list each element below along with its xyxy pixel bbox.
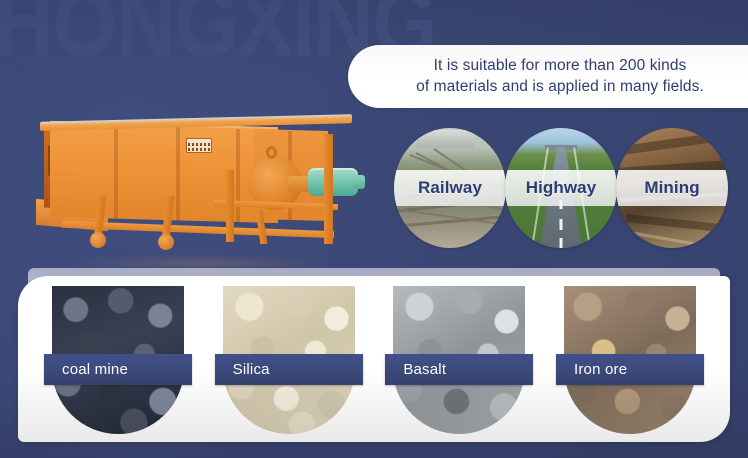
- mining-rock-ledge: [621, 132, 725, 155]
- railway-building: [416, 130, 474, 148]
- feeder-rib: [114, 126, 118, 220]
- material-label: coal mine: [62, 361, 128, 378]
- material-card-basalt[interactable]: Basalt: [385, 286, 533, 436]
- materials-row: coal mine Silica Basalt: [18, 276, 730, 442]
- application-label-band: Railway: [394, 170, 506, 206]
- application-circle-railway[interactable]: Railway: [394, 128, 506, 248]
- application-label: Highway: [526, 178, 597, 198]
- feeder-rib: [176, 127, 180, 221]
- application-label: Mining: [644, 178, 699, 198]
- application-circles: Railway Highway: [392, 128, 732, 250]
- feeder-post: [324, 134, 333, 244]
- material-label-bar: Basalt: [385, 354, 533, 385]
- feeder-nameplate: [186, 138, 212, 153]
- application-label-band: Mining: [616, 170, 728, 206]
- application-label: Railway: [418, 178, 482, 198]
- materials-panel: coal mine Silica Basalt: [18, 276, 730, 442]
- material-label-bar: Silica: [215, 354, 363, 385]
- headline-text: It is suitable for more than 200 kinds o…: [416, 56, 704, 98]
- material-label-bar: Iron ore: [556, 354, 704, 385]
- banner-canvas: HONGXING It is suitable for more than 20…: [0, 0, 748, 458]
- material-label-bar: coal mine: [44, 354, 192, 385]
- product-image-feeder: [36, 110, 366, 265]
- application-label-band: Highway: [505, 170, 617, 206]
- highway-lane-dash: [560, 219, 563, 230]
- material-label: Iron ore: [574, 361, 627, 378]
- feeder-rib: [236, 129, 240, 223]
- feeder-post: [226, 170, 234, 242]
- material-card-iron-ore[interactable]: Iron ore: [556, 286, 704, 436]
- application-circle-highway[interactable]: Highway: [505, 128, 617, 248]
- mining-rock-ledge: [626, 214, 726, 232]
- application-circle-mining[interactable]: Mining: [616, 128, 728, 248]
- feeder-electric-motor: [308, 168, 358, 196]
- feeder-foot: [90, 232, 106, 248]
- material-card-coal-mine[interactable]: coal mine: [44, 286, 192, 436]
- feeder-foot: [158, 234, 174, 250]
- material-label: Basalt: [403, 361, 446, 378]
- feeder-lifting-hook: [266, 146, 277, 159]
- material-card-silica[interactable]: Silica: [215, 286, 363, 436]
- mining-rock-highlight: [624, 230, 723, 248]
- material-label: Silica: [233, 361, 270, 378]
- headline-bubble: It is suitable for more than 200 kinds o…: [348, 45, 748, 108]
- highway-lane-dash: [560, 238, 563, 248]
